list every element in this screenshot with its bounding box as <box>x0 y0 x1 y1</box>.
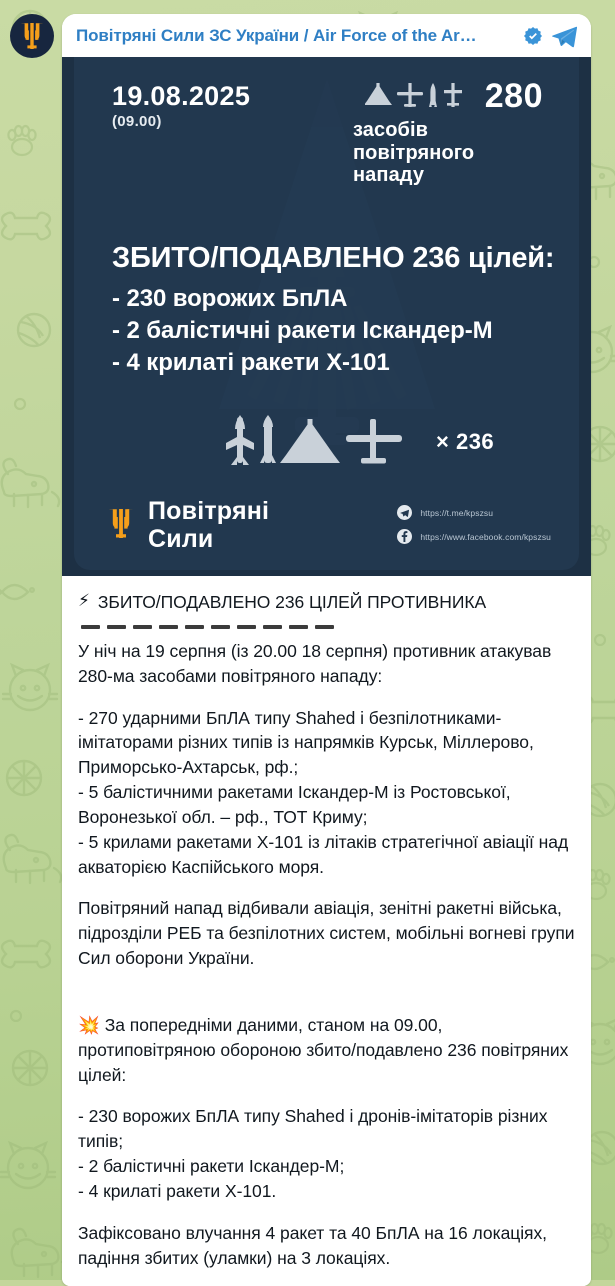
message-paragraph-4-text: За попередніми даними, станом на 09.00, … <box>78 1015 568 1085</box>
weapon-icons-row-mid <box>224 415 414 467</box>
infographic-brand: Повітряні Сили <box>108 497 269 553</box>
telegram-link[interactable]: https://t.me/kpszsu <box>397 505 551 520</box>
infographic-count-caption: засобів повітряного нападу <box>353 119 543 187</box>
missile-icon <box>429 83 437 107</box>
infographic-time: (09.00) <box>112 113 162 130</box>
shahed-drone-icon <box>280 419 340 463</box>
infographic-multiplier: × 236 <box>436 429 494 455</box>
message-paragraph-5: - 230 ворожих БпЛА типу Shahed і дронів-… <box>78 1104 575 1203</box>
message-paragraph-6: Зафіксовано влучання 4 ракет та 40 БпЛА … <box>78 1221 575 1271</box>
trident-icon <box>108 508 134 542</box>
infographic-date: 19.08.2025 <box>112 83 250 110</box>
infographic-list: - 230 ворожих БпЛА - 2 балістичні ракети… <box>112 283 493 379</box>
infographic-middle-icons: × 236 <box>224 415 494 467</box>
infographic-list-item: - 2 балістичні ракети Іскандер-М <box>112 315 493 347</box>
shahed-drone-icon <box>365 83 392 105</box>
message-paragraph-4: 💥За попередніми даними, станом на 09.00,… <box>78 988 575 1087</box>
message-headline: ЗБИТО/ПОДАВЛЕНО 236 ЦІЛЕЙ ПРОТИВНИКА <box>98 590 486 615</box>
infographic-headline: ЗБИТО/ПОДАВЛЕНО 236 цілей: <box>112 243 554 275</box>
ballistic-missile-icon <box>260 415 276 463</box>
collision-emoji-icon: 💥 <box>78 1015 100 1035</box>
message-paragraph-2: - 270 ударними БпЛА типу Shahed і безпіл… <box>78 706 575 880</box>
telegram-icon <box>397 505 412 520</box>
message-headline-row: ⚡ ЗБИТО/ПОДАВЛЕНО 236 ЦІЛЕЙ ПРОТИВНИКА <box>78 590 575 615</box>
message-bubble: Повітряні Сили ЗС України / Air Force of… <box>62 14 591 1286</box>
message-paragraph-1: У ніч на 19 серпня (із 20.00 18 серпня) … <box>78 639 575 689</box>
weapon-icons-row-top <box>365 81 475 111</box>
cruise-missile-icon <box>444 83 462 107</box>
infographic-inner-card: 19.08.2025 (09.00) <box>74 57 579 570</box>
airplane-icon <box>346 419 402 464</box>
infographic-image[interactable]: 19.08.2025 (09.00) <box>62 57 591 576</box>
infographic-brand-text: Повітряні Сили <box>148 497 269 553</box>
infographic-list-item: - 4 крилаті ракети Х-101 <box>112 347 493 379</box>
channel-header[interactable]: Повітряні Сили ЗС України / Air Force of… <box>62 14 591 57</box>
telegram-logo-icon[interactable] <box>551 24 577 48</box>
trident-icon <box>19 21 45 51</box>
verified-badge-icon <box>523 26 543 46</box>
infographic-count: 280 <box>485 79 543 113</box>
facebook-url: https://www.facebook.com/kpszsu <box>420 532 551 542</box>
message-text: ⚡ ЗБИТО/ПОДАВЛЕНО 236 ЦІЛЕЙ ПРОТИВНИКА У… <box>62 576 591 1286</box>
avatar[interactable] <box>10 14 54 58</box>
message-paragraph-3: Повітряний напад відбивали авіація, зені… <box>78 896 575 971</box>
facebook-icon <box>397 529 412 544</box>
lightning-bolt-icon: ⚡ <box>78 590 90 611</box>
airplane-icon <box>397 83 423 107</box>
infographic-list-item: - 230 ворожих БпЛА <box>112 283 493 315</box>
telegram-url: https://t.me/kpszsu <box>420 508 493 518</box>
dashed-separator <box>81 625 575 629</box>
channel-name[interactable]: Повітряні Сили ЗС України / Air Force of… <box>76 26 515 46</box>
facebook-link[interactable]: https://www.facebook.com/kpszsu <box>397 529 551 544</box>
infographic-count-row: 280 <box>365 79 543 113</box>
infographic-links: https://t.me/kpszsu https://www.facebook… <box>397 505 551 544</box>
cruise-missile-icon <box>226 415 254 465</box>
